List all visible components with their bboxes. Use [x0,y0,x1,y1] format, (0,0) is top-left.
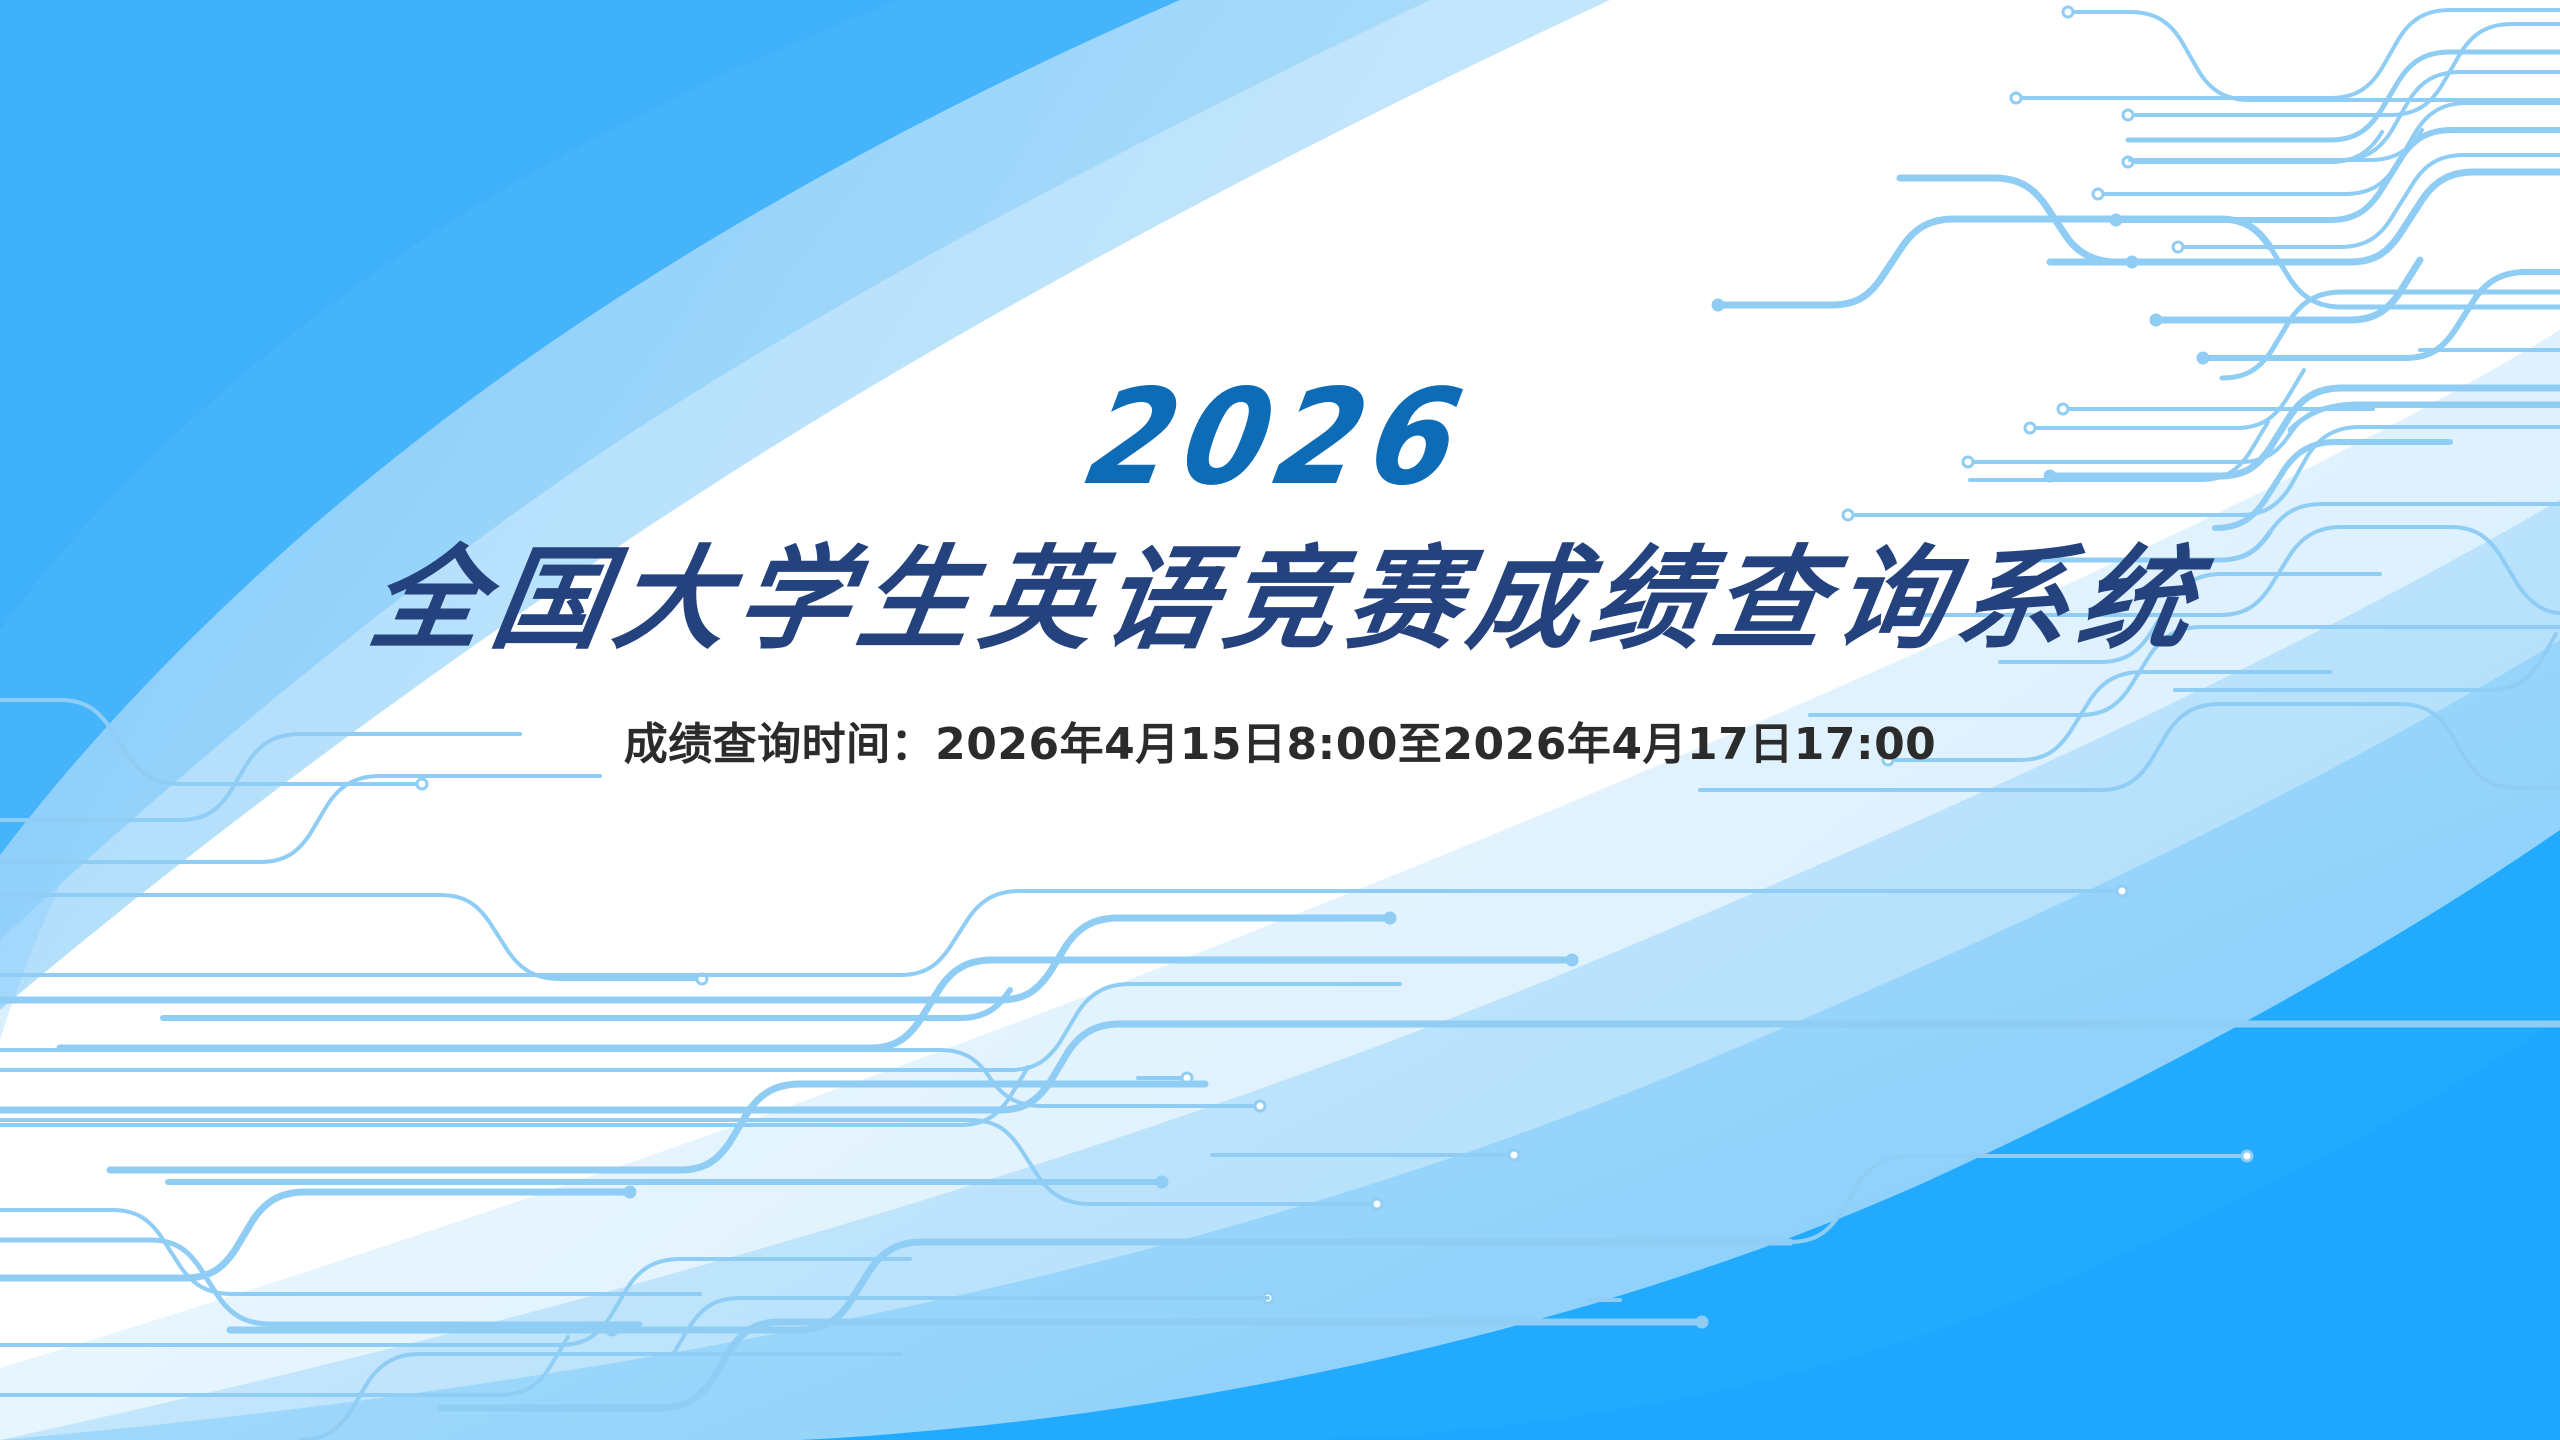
query-period-text: 成绩查询时间：2026年4月15日8:00至2026年4月17日17:00 [624,719,1937,772]
year-heading: 2026 [1080,372,1480,504]
page-title: 全国大学生英语竞赛成绩查询系统 [348,538,2212,663]
banner-root: 2026 全国大学生英语竞赛成绩查询系统 成绩查询时间：2026年4月15日8:… [0,0,2560,1440]
banner-content: 2026 全国大学生英语竞赛成绩查询系统 成绩查询时间：2026年4月15日8:… [0,0,2560,1440]
